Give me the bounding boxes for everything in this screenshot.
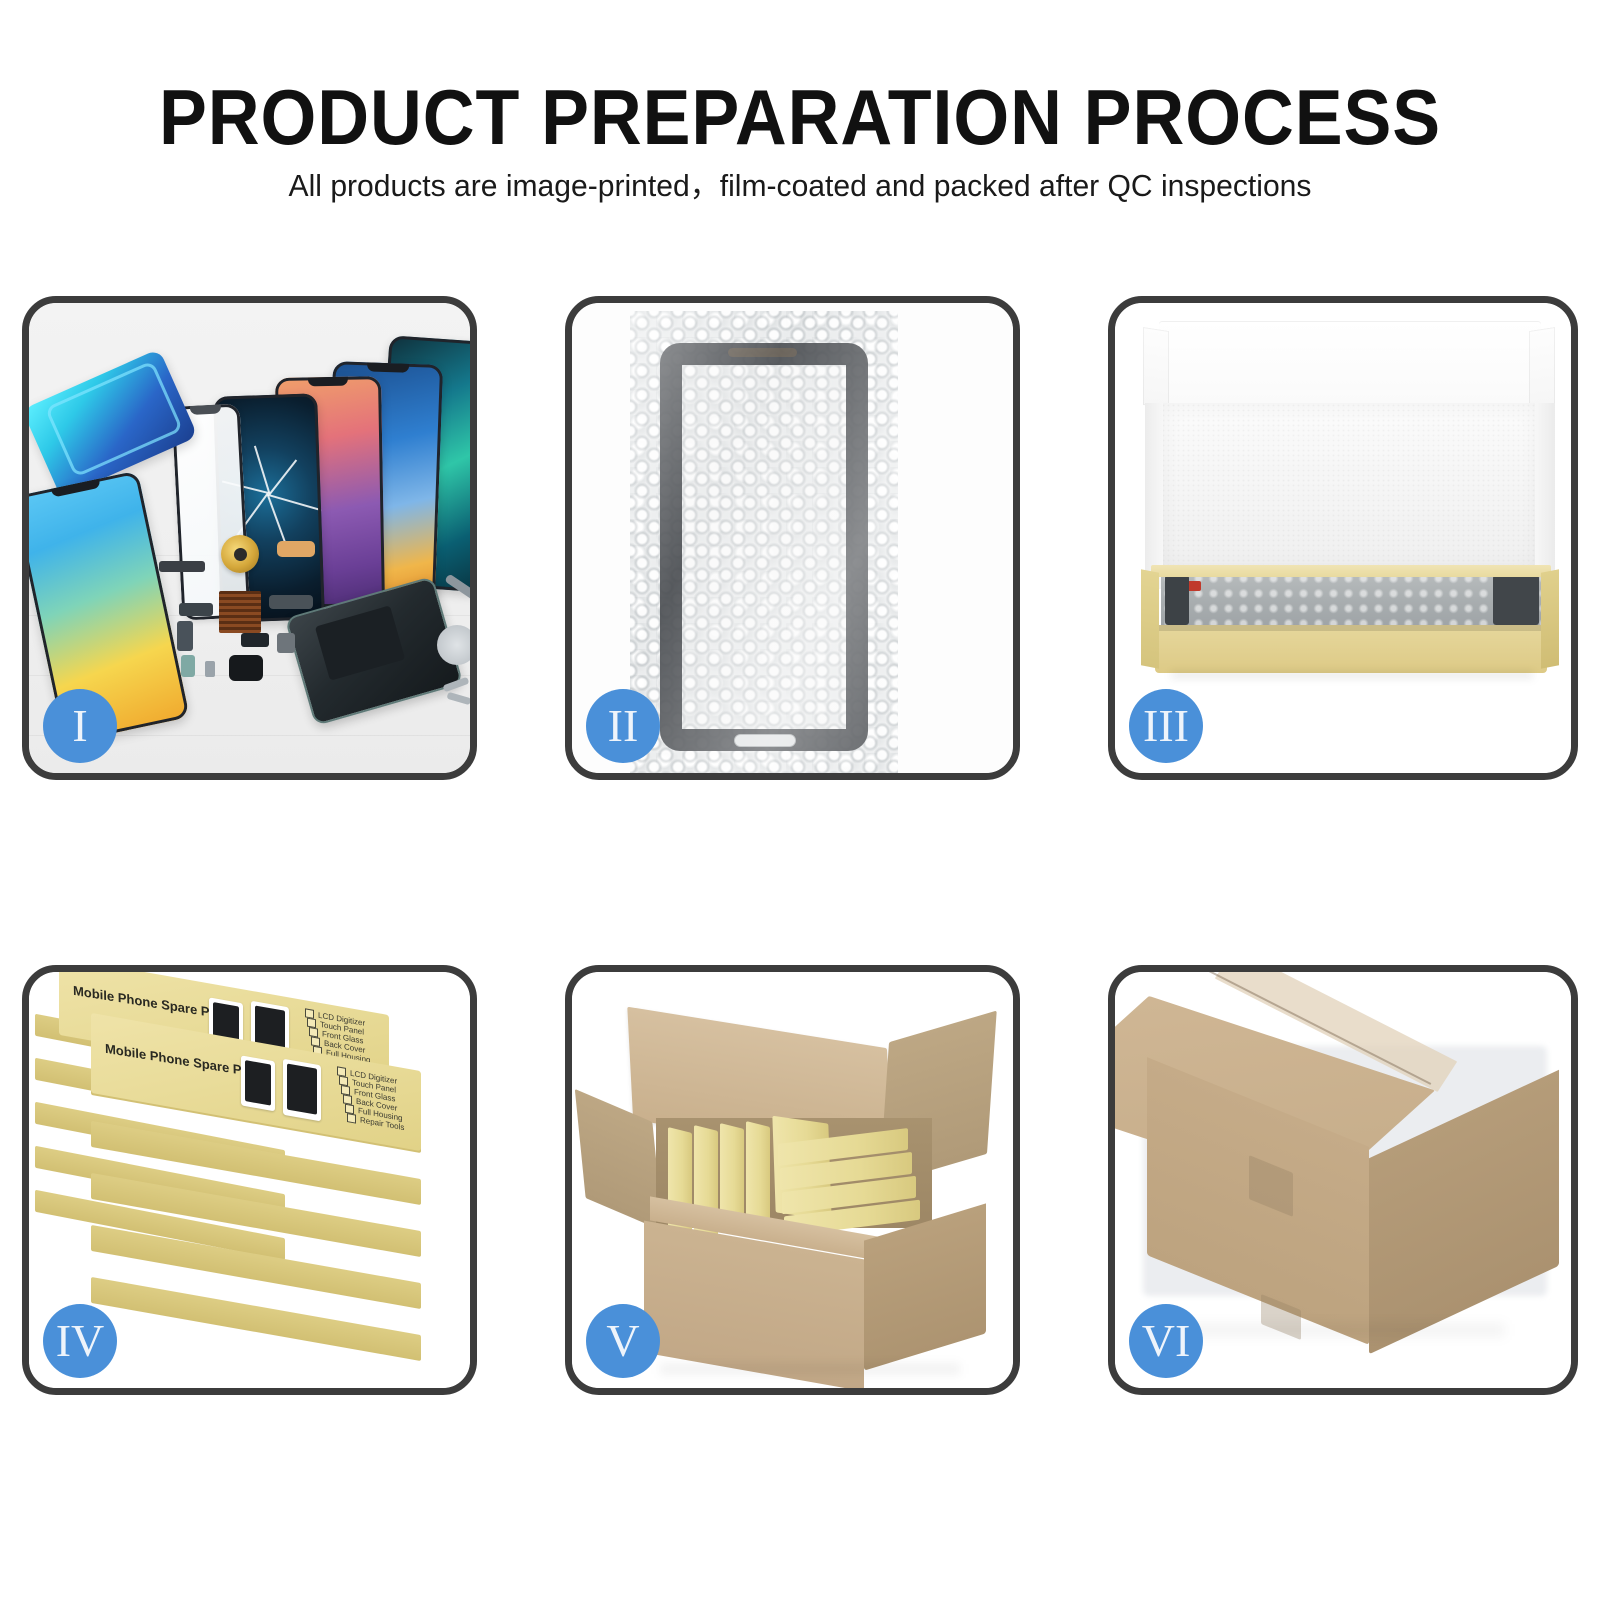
mailer-tray-front-shadow xyxy=(1155,625,1547,631)
step-badge-6: VI xyxy=(1129,1304,1203,1378)
step-badge-3: III xyxy=(1129,689,1203,763)
component-camera xyxy=(241,633,269,647)
component-connector xyxy=(159,561,205,572)
step-panel-6: VI xyxy=(1108,965,1578,1395)
step-panel-5: V xyxy=(565,965,1020,1395)
component-taptic xyxy=(277,633,295,653)
packed-screen-bezel-left xyxy=(1165,575,1189,625)
page-header: PRODUCT PREPARATION PROCESS All products… xyxy=(0,0,1600,250)
phone-notch xyxy=(190,404,222,415)
screen-earpiece xyxy=(728,348,797,357)
component-flex-cable xyxy=(269,595,313,609)
mailer-ground-shadow xyxy=(1171,671,1533,679)
mailer-tray-right-edge xyxy=(1541,569,1559,668)
phone-notch xyxy=(308,377,348,387)
component-flex-cable xyxy=(277,541,315,557)
component-screw xyxy=(205,661,215,677)
phone-notch xyxy=(367,362,409,372)
step-panel-3: III xyxy=(1108,296,1578,780)
screen-home-button xyxy=(734,734,795,747)
component-flex-cable xyxy=(179,603,213,616)
box-phone-image xyxy=(283,1059,321,1122)
mailer-foam-texture xyxy=(1161,403,1539,571)
mailer-lid-right-wing xyxy=(1529,327,1555,409)
packed-screen-wrap xyxy=(1161,571,1543,629)
crack-line xyxy=(254,446,271,494)
page-title: PRODUCT PREPARATION PROCESS xyxy=(64,78,1536,156)
step-badge-2: II xyxy=(586,689,660,763)
packed-screen xyxy=(1161,571,1543,629)
crack-line xyxy=(268,494,324,512)
step-badge-4: IV xyxy=(43,1304,117,1378)
crack-line xyxy=(267,494,287,544)
repair-tool-brush xyxy=(437,625,470,665)
packed-screen-bezel xyxy=(1493,575,1539,625)
step-panel-1: I xyxy=(22,296,477,780)
step-badge-1: I xyxy=(43,689,117,763)
page-subtitle: All products are image-printed，film-coat… xyxy=(24,170,1576,201)
mailer-tray-front xyxy=(1155,625,1547,673)
step-panel-2: II xyxy=(565,296,1020,780)
packed-screen-red-mark xyxy=(1187,581,1201,591)
sealed-carton-ground-shadow xyxy=(1175,1324,1505,1336)
carton-ground-shadow xyxy=(660,1364,960,1374)
mailer-lid-left-wing xyxy=(1143,327,1169,409)
mailer-tray-rim xyxy=(1151,565,1551,577)
component-flex-cable xyxy=(177,621,193,651)
box-phone-image xyxy=(241,1055,275,1111)
component-speaker-core xyxy=(234,548,247,561)
step-panel-4: Mobile Phone Spare Parts LCD Digitizer T… xyxy=(22,965,477,1395)
component-ic-grid xyxy=(219,591,261,633)
component-camera xyxy=(229,655,263,681)
mailer-right-wall xyxy=(1535,403,1555,589)
component-sim-tray xyxy=(181,655,195,677)
step-badge-5: V xyxy=(586,1304,660,1378)
mailer-tray-left-edge xyxy=(1141,569,1159,668)
crack-line xyxy=(269,460,298,496)
mailer-lid xyxy=(1159,321,1541,407)
wrapped-screen xyxy=(660,343,868,751)
mailer-left-wall xyxy=(1145,403,1163,589)
